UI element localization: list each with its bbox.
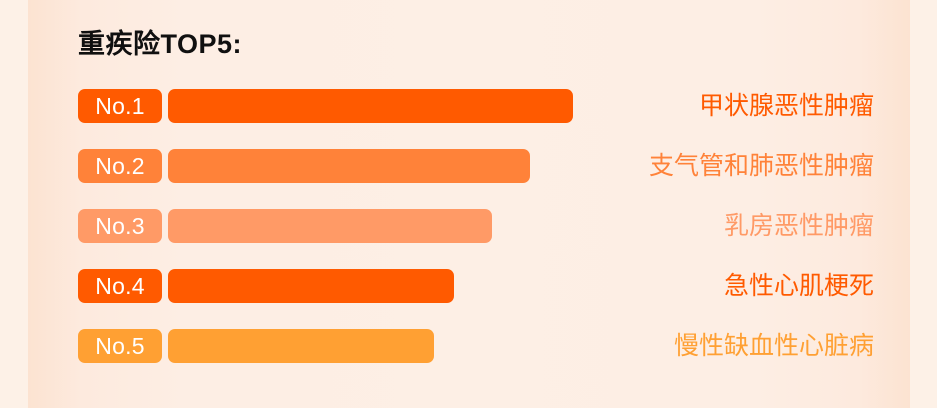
rank-bar: [168, 209, 492, 243]
rank-bar: [168, 149, 530, 183]
rank-label: 慢性缺血性心脏病: [674, 329, 874, 363]
rank-badge: No.4: [78, 269, 162, 303]
rank-bar: [168, 89, 573, 123]
ranking-card: 重疾险TOP5: No.1甲状腺恶性肿瘤No.2支气管和肺恶性肿瘤No.3乳房恶…: [28, 0, 910, 408]
rank-bar: [168, 269, 454, 303]
rank-row: No.1甲状腺恶性肿瘤: [28, 89, 910, 123]
rank-badge: No.3: [78, 209, 162, 243]
rank-row: No.3乳房恶性肿瘤: [28, 209, 910, 243]
rank-label: 急性心肌梗死: [724, 269, 874, 303]
rank-label: 支气管和肺恶性肿瘤: [649, 149, 874, 183]
rank-row: No.4急性心肌梗死: [28, 269, 910, 303]
page-root: 重疾险TOP5: No.1甲状腺恶性肿瘤No.2支气管和肺恶性肿瘤No.3乳房恶…: [0, 0, 937, 408]
rank-badge: No.1: [78, 89, 162, 123]
rank-label: 乳房恶性肿瘤: [724, 209, 874, 243]
rank-badge: No.5: [78, 329, 162, 363]
rank-row: No.5慢性缺血性心脏病: [28, 329, 910, 363]
rank-row: No.2支气管和肺恶性肿瘤: [28, 149, 910, 183]
rank-bar: [168, 329, 434, 363]
rank-badge: No.2: [78, 149, 162, 183]
page-title: 重疾险TOP5:: [78, 22, 242, 61]
rank-label: 甲状腺恶性肿瘤: [699, 89, 874, 123]
